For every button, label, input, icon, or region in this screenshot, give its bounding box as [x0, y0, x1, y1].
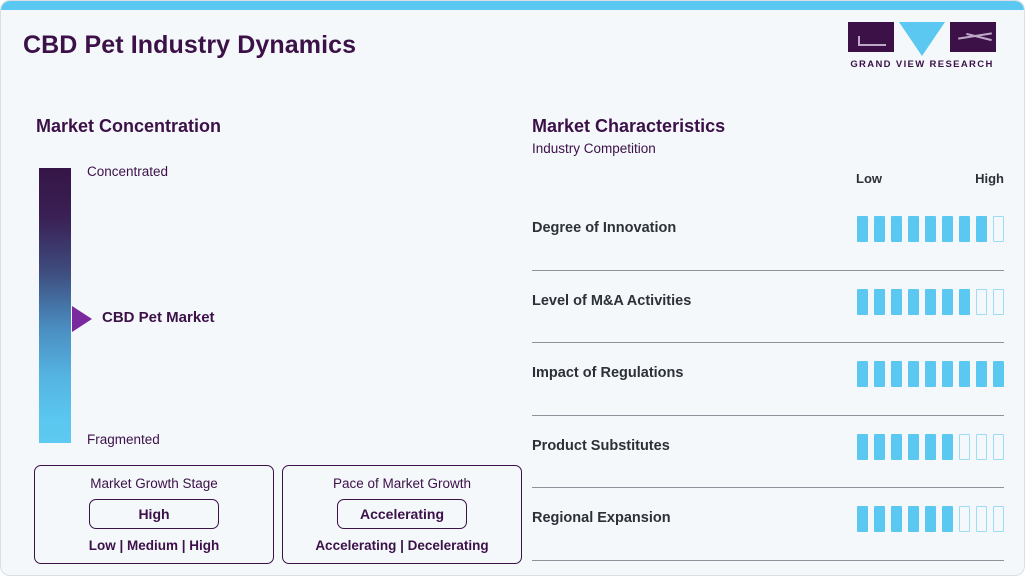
pace-of-market-growth-value: Accelerating [337, 499, 467, 529]
rating-segment-empty [993, 434, 1004, 460]
rating-segment-filled [908, 361, 919, 387]
pace-of-market-growth-scale: Accelerating | Decelerating [291, 538, 513, 553]
infographic-root: CBD Pet Industry Dynamics GRAND VIEW RES… [0, 0, 1025, 576]
rating-segment-filled [976, 216, 987, 242]
marker-label: CBD Pet Market [102, 309, 215, 326]
market-characteristics-panel: Market Characteristics Industry Competit… [513, 96, 1025, 576]
rating-segment-filled [874, 289, 885, 315]
logo-marks [848, 22, 996, 54]
rating-segment-filled [874, 506, 885, 532]
rating-segment-filled [925, 434, 936, 460]
axis-label-high: High [975, 171, 1004, 186]
rating-segment-filled [857, 289, 868, 315]
market-concentration-panel: Market Concentration Concentrated Fragme… [1, 96, 513, 566]
market-concentration-title: Market Concentration [36, 116, 221, 137]
rating-segment-empty [959, 506, 970, 532]
market-characteristics-title: Market Characteristics [532, 116, 725, 137]
scale-label-fragmented: Fragmented [87, 432, 160, 447]
pace-of-market-growth-box: Pace of Market Growth Accelerating Accel… [282, 465, 522, 564]
market-growth-stage-box: Market Growth Stage High Low | Medium | … [34, 465, 274, 564]
pace-of-market-growth-title: Pace of Market Growth [291, 476, 513, 491]
rating-segment-filled [874, 361, 885, 387]
marker-arrow-icon [72, 306, 92, 332]
rating-row: Product Substitutes [532, 416, 1004, 489]
rating-rows: Degree of InnovationLevel of M&A Activit… [532, 198, 1004, 561]
market-growth-stage-title: Market Growth Stage [43, 476, 265, 491]
rating-bar-group [857, 434, 1004, 460]
rating-segment-empty [976, 289, 987, 315]
rating-segment-filled [942, 506, 953, 532]
rating-row: Level of M&A Activities [532, 271, 1004, 344]
rating-segment-empty [993, 506, 1004, 532]
top-accent-bar [1, 1, 1024, 10]
rating-row-label: Degree of Innovation [532, 220, 676, 236]
logo-wordmark: GRAND VIEW RESEARCH [848, 59, 996, 70]
rating-segment-filled [942, 361, 953, 387]
rating-row: Impact of Regulations [532, 343, 1004, 416]
rating-row: Degree of Innovation [532, 198, 1004, 271]
rating-bar-group [857, 361, 1004, 387]
rating-segment-filled [891, 506, 902, 532]
rating-segment-filled [942, 216, 953, 242]
rating-row-label: Product Substitutes [532, 438, 670, 454]
header: CBD Pet Industry Dynamics GRAND VIEW RES… [1, 10, 1024, 94]
scale-label-concentrated: Concentrated [87, 164, 168, 179]
rating-segment-filled [942, 434, 953, 460]
rating-segment-filled [908, 216, 919, 242]
rating-segment-filled [925, 361, 936, 387]
rating-segment-empty [993, 216, 1004, 242]
rating-bar-group [857, 216, 1004, 242]
rating-segment-filled [908, 434, 919, 460]
logo-r-icon [950, 22, 996, 52]
logo-v-triangle-icon [899, 22, 945, 56]
rating-row-label: Level of M&A Activities [532, 293, 691, 309]
rating-segment-filled [891, 216, 902, 242]
rating-segment-filled [874, 434, 885, 460]
rating-segment-filled [925, 506, 936, 532]
market-growth-stage-scale: Low | Medium | High [43, 538, 265, 553]
rating-segment-filled [891, 434, 902, 460]
market-growth-stage-value: High [89, 499, 219, 529]
axis-label-low: Low [856, 171, 882, 186]
concentration-gradient-bar [39, 168, 71, 443]
rating-segment-empty [976, 434, 987, 460]
rating-segment-filled [857, 216, 868, 242]
rating-segment-filled [959, 361, 970, 387]
rating-segment-empty [993, 289, 1004, 315]
rating-segment-filled [891, 289, 902, 315]
rating-bar-group [857, 289, 1004, 315]
rating-segment-filled [908, 289, 919, 315]
rating-segment-filled [857, 434, 868, 460]
rating-bar-group [857, 506, 1004, 532]
rating-segment-filled [857, 361, 868, 387]
rating-row-label: Regional Expansion [532, 510, 671, 526]
rating-segment-filled [857, 506, 868, 532]
page-title: CBD Pet Industry Dynamics [23, 31, 356, 60]
rating-segment-filled [959, 216, 970, 242]
growth-info-boxes: Market Growth Stage High Low | Medium | … [34, 465, 522, 564]
market-characteristics-subtitle: Industry Competition [532, 141, 656, 156]
concentration-scale: Concentrated Fragmented CBD Pet Market [39, 168, 499, 443]
rating-segment-filled [874, 216, 885, 242]
rating-row-label: Impact of Regulations [532, 365, 683, 381]
rating-axis: Low High [532, 171, 1004, 189]
rating-segment-filled [942, 289, 953, 315]
rating-segment-filled [993, 361, 1004, 387]
rating-segment-filled [925, 216, 936, 242]
rating-segment-empty [976, 506, 987, 532]
logo-g-icon [848, 22, 894, 52]
brand-logo: GRAND VIEW RESEARCH [848, 22, 996, 70]
rating-segment-filled [925, 289, 936, 315]
rating-segment-filled [891, 361, 902, 387]
rating-row: Regional Expansion [532, 488, 1004, 561]
rating-segment-filled [908, 506, 919, 532]
rating-segment-filled [959, 289, 970, 315]
rating-segment-empty [959, 434, 970, 460]
rating-segment-filled [976, 361, 987, 387]
